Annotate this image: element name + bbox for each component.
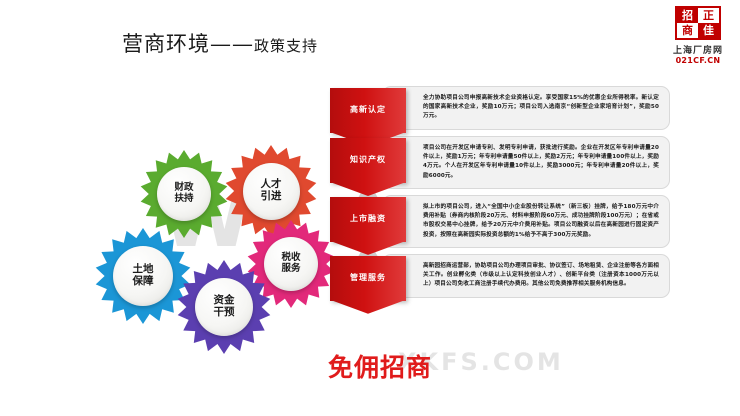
gear-hub-label: 财政扶持 [157, 167, 211, 221]
policy-card: 拟上市的项目公司，进入“全国中小企业股份转让系统”（新三板）挂牌，给予180万元… [382, 195, 670, 248]
policy-badge[interactable]: 高新认定 [330, 88, 406, 133]
gear-1[interactable]: 财政扶持 [140, 150, 228, 238]
gear-label-line2: 干预 [214, 307, 235, 319]
gear-5[interactable]: 资金干预 [177, 260, 271, 354]
policy-row: 高新认定全力协助项目公司申报高新技术企业资格认定。享受国家15%的优惠企业所得税… [330, 86, 670, 130]
logo-char-2: 正 [698, 8, 719, 23]
policy-text: 项目公司在开发区申请专利、发明专利申请，获批进行奖励。企业在开发区年专利申请量2… [423, 144, 659, 181]
watermark-grey-tail: XKFS.COM [398, 348, 564, 376]
logo-site-name: 上海厂房网 [666, 43, 730, 56]
slide-canvas: W 招 正 商 佳 上海厂房网 021CF.CN 营商环境——政策支持 财政扶持… [0, 0, 740, 416]
page-title-main: 营商环境 [122, 32, 210, 56]
logo-char-1: 招 [677, 8, 698, 23]
policy-card: 高新园招商运营部，协助项目公司办理项目审批、协议签订、场地租赁、企业注册等各方面… [382, 254, 670, 298]
logo-char-3: 商 [677, 23, 698, 38]
page-title-sub: 政策支持 [254, 37, 318, 55]
gear-hub-label: 人才引进 [243, 163, 300, 220]
policy-row: 上市融资拟上市的项目公司，进入“全国中小企业股份转让系统”（新三板）挂牌，给予1… [330, 195, 670, 248]
watermark-red: 免佣招商 [328, 348, 432, 384]
policy-card: 项目公司在开发区申请专利、发明专利申请，获批进行奖励。企业在开发区年专利申请量2… [382, 136, 670, 189]
gear-hub-label: 资金干预 [195, 278, 253, 336]
policy-badge[interactable]: 知识产权 [330, 138, 406, 183]
gear-shape-icon [177, 339, 271, 358]
site-logo: 招 正 商 佳 上海厂房网 021CF.CN [666, 6, 730, 65]
logo-character-box: 招 正 商 佳 [675, 6, 721, 40]
policy-card: 全力协助项目公司申报高新技术企业资格认定。享受国家15%的优惠企业所得税率。新认… [382, 86, 670, 130]
logo-char-4: 佳 [698, 23, 719, 38]
gear-label-line2: 保障 [133, 276, 154, 288]
policy-row: 管理服务高新园招商运营部，协助项目公司办理项目审批、协议签订、场地租赁、企业注册… [330, 254, 670, 298]
gear-label-line2: 扶持 [174, 194, 193, 205]
page-title: 营商环境——政策支持 [122, 28, 318, 58]
policy-badge-label: 高新认定 [330, 88, 406, 133]
policy-row: 知识产权项目公司在开发区申请专利、发明专利申请，获批进行奖励。企业在开发区年专利… [330, 136, 670, 189]
gear-cluster: 财政扶持人才引进税收服务土地保障资金干预 [95, 150, 335, 355]
gear-hub-label: 土地保障 [113, 246, 173, 306]
gear-hub-label: 税收服务 [264, 237, 318, 291]
page-title-dash: —— [210, 32, 254, 56]
policy-badge[interactable]: 上市融资 [330, 197, 406, 242]
policy-text: 拟上市的项目公司，进入“全国中小企业股份转让系统”（新三板）挂牌，给予180万元… [423, 203, 659, 240]
gear-label-line2: 服务 [281, 264, 300, 275]
logo-site-url: 021CF.CN [666, 56, 730, 65]
policy-badge-label: 上市融资 [330, 197, 406, 242]
policy-badge[interactable]: 管理服务 [330, 256, 406, 301]
gear-label-line2: 引进 [261, 191, 282, 203]
policy-text: 全力协助项目公司申报高新技术企业资格认定。享受国家15%的优惠企业所得税率。新认… [423, 94, 659, 122]
policy-list: 高新认定全力协助项目公司申报高新技术企业资格认定。享受国家15%的优惠企业所得税… [330, 86, 670, 304]
policy-badge-label: 管理服务 [330, 256, 406, 301]
policy-badge-label: 知识产权 [330, 138, 406, 183]
policy-text: 高新园招商运营部，协助项目公司办理项目审批、协议签订、场地租赁、企业注册等各方面… [423, 262, 659, 290]
